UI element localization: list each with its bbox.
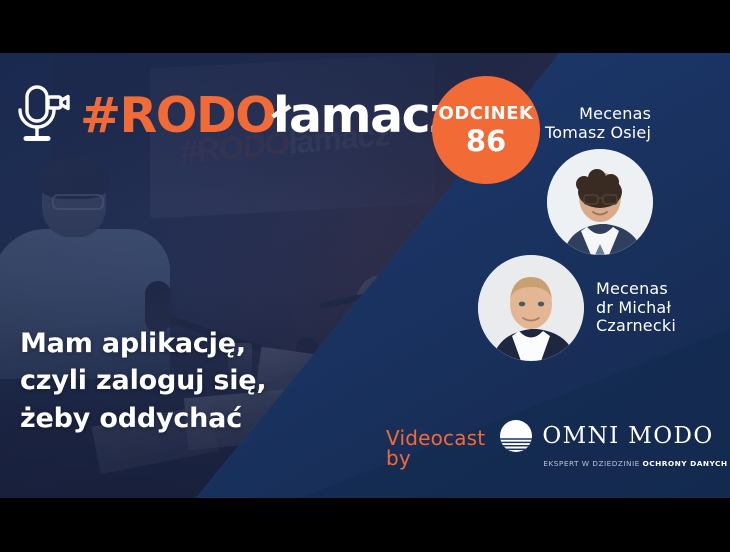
letterbox-bar-top (0, 0, 730, 53)
episode-badge-number: 86 (466, 127, 506, 156)
brand-logo: #RODOłamacz (14, 83, 456, 147)
speaker-2-name: Mecenas dr Michał Czarnecki (596, 280, 676, 336)
video-thumbnail: #RODOłamacz (0, 0, 730, 552)
sun-over-water-icon (499, 419, 533, 453)
portrait-michal-czarnecki-illustration (478, 255, 584, 361)
omni-tagline-pre: EKSPERT W DZIEDZINIE (543, 459, 642, 468)
episode-badge-label: ODCINEK (439, 105, 534, 123)
speaker-2-avatar (478, 255, 584, 361)
brand-wordmark: #RODOłamacz (80, 91, 456, 140)
speaker-tomasz-osiej: Mecenas Tomasz Osiej (545, 105, 653, 255)
episode-title-line-1: Mam aplikację, (20, 325, 266, 362)
microphone-camera-icon (14, 83, 70, 147)
brand-wordmark-hash: #RODO (80, 87, 275, 144)
omni-modo-logo: OMNI MODO EKSPERT W DZIEDZINIE OCHRONY D… (499, 419, 730, 468)
omni-modo-tagline: EKSPERT W DZIEDZINIE OCHRONY DANYCH OSOB… (543, 459, 730, 468)
episode-title-line-2: czyli zaloguj się, (20, 362, 266, 399)
speaker-2-lastname: Czarnecki (596, 317, 676, 336)
speaker-michal-czarnecki: Mecenas dr Michał Czarnecki (478, 255, 676, 361)
speaker-1-name: Mecenas Tomasz Osiej (545, 105, 651, 142)
speaker-1-avatar (547, 149, 653, 255)
episode-title-line-3: żeby oddychać (20, 400, 266, 437)
omni-modo-logo-row: OMNI MODO (499, 419, 730, 453)
omni-modo-name: OMNI MODO (542, 425, 713, 448)
episode-badge: ODCINEK 86 (432, 76, 540, 184)
brand-wordmark-tail: łamacz (272, 87, 456, 144)
speaker-2-role: Mecenas (596, 280, 676, 299)
videocast-by-label: Videocast by (386, 419, 485, 468)
portrait-tomasz-osiej-illustration (547, 149, 653, 255)
omni-tagline-bold: OCHRONY DANYCH (643, 459, 728, 468)
artwork-frame: #RODOłamacz (0, 53, 730, 498)
speaker-1-role: Mecenas (545, 105, 651, 124)
letterbox-bar-bottom (0, 498, 730, 552)
speaker-1-fullname: Tomasz Osiej (545, 124, 651, 143)
sponsor-lockup: Videocast by (386, 419, 730, 468)
speaker-2-firstname: dr Michał (596, 299, 676, 318)
episode-title: Mam aplikację, czyli zaloguj się, żeby o… (20, 325, 266, 437)
